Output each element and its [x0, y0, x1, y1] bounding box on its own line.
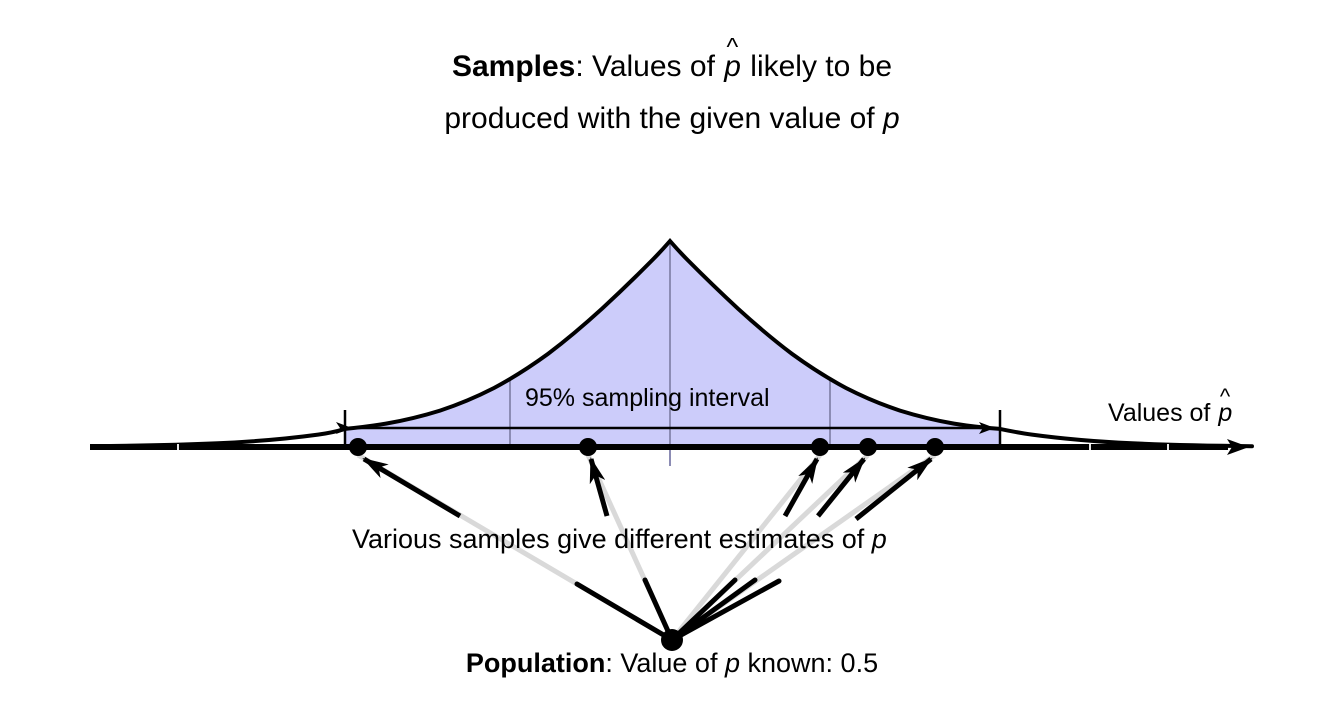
- sample-dot: [859, 438, 877, 456]
- samples-caption: Various samples give different estimates…: [352, 526, 887, 553]
- title-line-1-rest-b: likely to be: [742, 50, 892, 83]
- samples-caption-text: Various samples give different estimates…: [352, 524, 872, 554]
- title: Samples: Values of ^p likely to be produ…: [0, 52, 1344, 134]
- p-hat-symbol: ^p: [1217, 401, 1233, 426]
- p-hat-symbol: ^p: [723, 52, 742, 82]
- interval-label: 95% sampling interval: [525, 386, 770, 411]
- title-line-2: produced with the given value of p: [0, 104, 1344, 134]
- axis-label-prefix: Values of: [1108, 399, 1217, 427]
- diagram-canvas: Samples: Values of ^p likely to be produ…: [0, 0, 1344, 720]
- population-text-a: : Value of: [605, 648, 725, 678]
- population-bold-lead: Population: [466, 648, 605, 678]
- sample-dot: [926, 438, 944, 456]
- population-value: 0.5: [841, 648, 879, 678]
- hat-accent: ^: [726, 35, 738, 60]
- title-bold-lead: Samples: [452, 50, 575, 83]
- title-line-2-text: produced with the given value of: [444, 102, 883, 135]
- p-variable: p: [883, 102, 900, 135]
- p-variable: p: [725, 648, 740, 678]
- sample-dot: [579, 438, 597, 456]
- fan-arrows-upper: [364, 459, 931, 519]
- axis-label: Values of ^p: [1108, 401, 1233, 426]
- sample-dot: [811, 438, 829, 456]
- hat-accent: ^: [1220, 386, 1230, 408]
- distribution-area: [345, 241, 1000, 447]
- title-line-1-rest-a: : Values of: [575, 50, 723, 83]
- title-line-1: Samples: Values of ^p likely to be: [0, 52, 1344, 82]
- p-variable: p: [872, 524, 887, 554]
- sample-dot: [349, 438, 367, 456]
- population-text-b: known:: [740, 648, 841, 678]
- population-caption: Population: Value of p known: 0.5: [0, 650, 1344, 677]
